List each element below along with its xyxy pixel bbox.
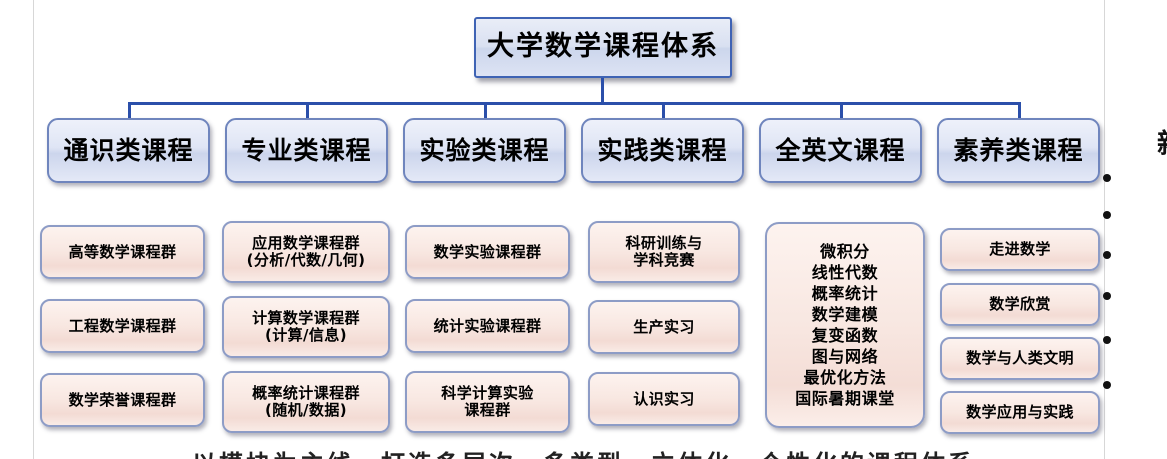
leaf-node[interactable]: 工程数学课程群 <box>40 299 205 353</box>
leaf-node[interactable]: 应用数学课程群 (分析/代数/几何) <box>222 221 390 283</box>
course-list-item: 图与网络 <box>812 346 878 367</box>
category-node-zhuanye[interactable]: 专业类课程 <box>225 118 388 183</box>
slide-canvas: 大学数学课程体系 通识类课程 专业类课程 实验类课程 实践类课程 全英文课程 素… <box>0 0 1167 459</box>
leaf-node[interactable]: 走进数学 <box>940 228 1100 271</box>
leaf-node[interactable]: 数学荣誉课程群 <box>40 373 205 427</box>
leaf-node[interactable]: 概率统计课程群 (随机/数据) <box>222 371 390 433</box>
leaf-node[interactable]: 统计实验课程群 <box>405 299 570 353</box>
selection-handle[interactable] <box>1103 174 1111 182</box>
category-node-tongshi[interactable]: 通识类课程 <box>47 118 210 183</box>
course-list-item: 微积分 <box>820 241 870 262</box>
leaf-node[interactable]: 生产实习 <box>588 300 740 354</box>
course-list-box[interactable]: 微积分 线性代数 概率统计 数学建模 复变函数 图与网络 最优化方法 国际暑期课… <box>765 222 925 428</box>
course-list-item: 复变函数 <box>812 325 878 346</box>
course-list-item: 线性代数 <box>812 262 878 283</box>
course-list-item: 最优化方法 <box>803 367 886 388</box>
leaf-node[interactable]: 数学实验课程群 <box>405 225 570 279</box>
course-list-item: 数学建模 <box>812 304 878 325</box>
leaf-node[interactable]: 计算数学课程群 (计算/信息) <box>222 296 390 358</box>
course-list-item: 概率统计 <box>812 283 878 304</box>
course-list-item: 国际暑期课堂 <box>795 388 895 409</box>
connector-root-stem <box>601 78 604 104</box>
leaf-node[interactable]: 高等数学课程群 <box>40 225 205 279</box>
selection-handle[interactable] <box>1103 336 1111 344</box>
category-node-suyang[interactable]: 素养类课程 <box>937 118 1100 183</box>
slide-guide-right <box>1104 0 1105 459</box>
leaf-node[interactable]: 认识实习 <box>588 372 740 426</box>
leaf-node[interactable]: 科研训练与 学科竞赛 <box>588 221 740 283</box>
slide-guide-left <box>33 0 34 459</box>
selection-handle[interactable] <box>1103 251 1111 259</box>
selection-handle[interactable] <box>1103 211 1111 219</box>
category-node-quanyingwen[interactable]: 全英文课程 <box>759 118 922 183</box>
leaf-node[interactable]: 数学与人类文明 <box>940 337 1100 380</box>
leaf-node[interactable]: 数学欣赏 <box>940 283 1100 326</box>
leaf-node[interactable]: 科学计算实验 课程群 <box>405 371 570 433</box>
category-node-shijian[interactable]: 实践类课程 <box>581 118 744 183</box>
connector-bus <box>128 102 1021 105</box>
leaf-node[interactable]: 数学应用与实践 <box>940 391 1100 434</box>
selection-handle[interactable] <box>1103 381 1111 389</box>
root-node[interactable]: 大学数学课程体系 <box>474 17 732 78</box>
edge-clipped-text: 新 <box>1157 122 1167 161</box>
bottom-caption: 以模块为主线，打造多层次、多类型、立体化、个性化的课程体系 <box>0 444 1167 459</box>
selection-handle[interactable] <box>1103 292 1111 300</box>
category-node-shiyan[interactable]: 实验类课程 <box>403 118 566 183</box>
